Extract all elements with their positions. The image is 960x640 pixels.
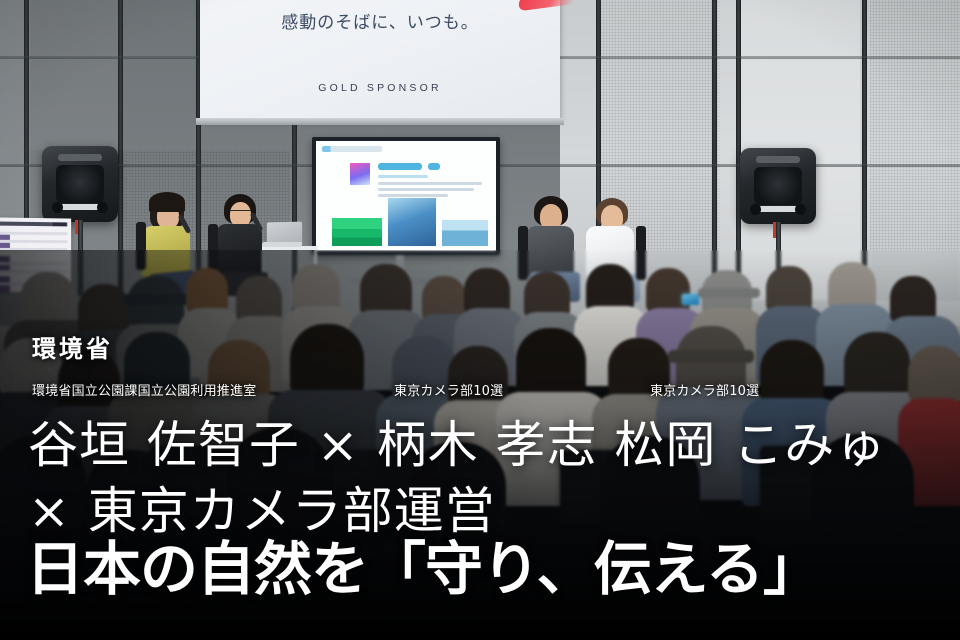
wall-panel	[30, 0, 120, 150]
audience-head	[392, 336, 456, 402]
cap-brim-icon	[668, 350, 754, 363]
pa-speaker-right	[740, 148, 816, 224]
audience-head-front	[408, 442, 506, 538]
speaker-brand-label	[760, 206, 796, 212]
audience-head-front	[0, 436, 86, 530]
poster-row	[0, 240, 67, 243]
monitor-ui-pill	[428, 163, 440, 170]
sponsor-tagline: 感動のそばに、いつも。	[200, 8, 560, 33]
audience-head-with-cap	[124, 332, 190, 396]
monitor-screen	[316, 141, 496, 251]
monitor-text-line	[378, 182, 482, 185]
speaker-cable-icon	[75, 220, 78, 234]
audience-head-front	[812, 434, 914, 534]
cap-brim-icon	[124, 294, 194, 305]
audience-head-front	[600, 436, 700, 534]
monitor-thumbnail	[350, 163, 370, 185]
hair-top	[149, 192, 185, 212]
monitor-page-header	[322, 146, 382, 152]
speaker-port-icon	[750, 204, 761, 215]
event-banner-image: 感動のそばに、いつも。 GOLD SPONSOR	[0, 0, 960, 640]
speaker-cone-icon	[56, 165, 104, 203]
projection-screen: 感動のそばに、いつも。 GOLD SPONSOR	[200, 0, 560, 120]
cap-brim-icon	[698, 288, 760, 298]
speaker-port-icon	[795, 204, 806, 215]
audience	[0, 250, 960, 640]
poster-row	[0, 232, 67, 236]
audience-head-front	[86, 450, 176, 540]
audience-head	[0, 338, 62, 400]
monitor-photo-blue	[388, 198, 436, 246]
stage-monitor	[312, 137, 500, 255]
monitor-ui-pill	[378, 163, 422, 170]
glasses-icon	[230, 210, 251, 215]
audience-head	[760, 340, 824, 406]
audience-head	[208, 340, 270, 402]
speaker-brand-label	[62, 204, 98, 210]
sponsor-tier-label: GOLD SPONSOR	[200, 82, 560, 94]
monitor-text-line	[378, 175, 428, 178]
audience-head-front	[228, 428, 332, 532]
audience-head	[290, 324, 364, 400]
audience-head	[608, 338, 670, 402]
audience-head	[844, 332, 910, 400]
projection-screen-weight-bar	[196, 118, 564, 125]
audience-head	[908, 346, 960, 404]
speaker-port-icon	[97, 202, 108, 213]
smartphone-screen	[682, 294, 699, 305]
monitor-photo-sea	[442, 220, 488, 246]
speaker-port-icon	[52, 202, 63, 213]
monitor-text-line	[378, 194, 448, 197]
speaker-cone-icon	[754, 167, 802, 205]
poster-badge	[53, 222, 67, 226]
photo-scene: 感動のそばに、いつも。 GOLD SPONSOR	[0, 0, 960, 640]
audience-head	[516, 328, 586, 400]
monitor-text-line	[378, 188, 474, 191]
monitor-photo-green	[332, 218, 382, 246]
laptop-keyboard	[261, 242, 302, 247]
pa-speaker-left	[42, 146, 118, 222]
speaker-cable-icon	[773, 222, 776, 238]
audience-head	[448, 346, 508, 408]
laptop-screen	[267, 222, 302, 245]
